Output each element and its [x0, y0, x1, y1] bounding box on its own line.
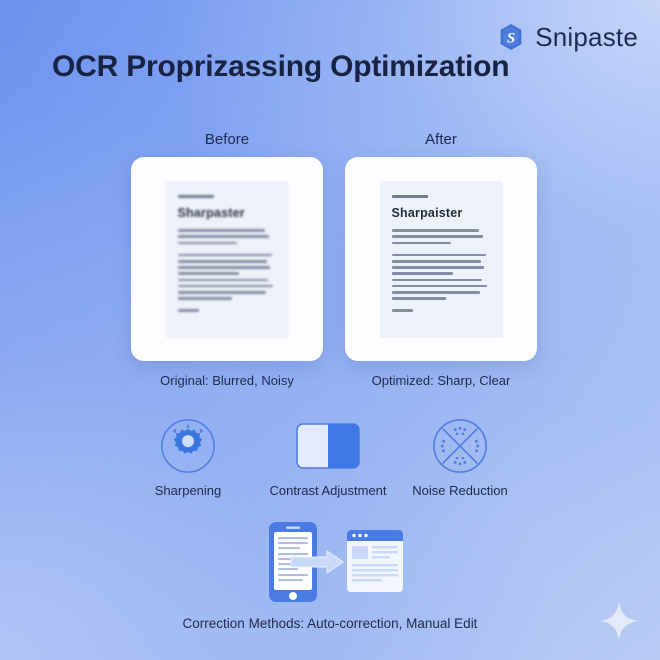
after-heading: After — [345, 131, 537, 149]
before-column: Before Sharpaster Original: Blurred, Noi… — [131, 131, 323, 389]
after-doc-heading: Sharpaister — [392, 207, 491, 221]
after-card[interactable]: Sharpaister — [345, 157, 537, 361]
after-column: After Sharpaister Optimized: Sharp, Clea… — [345, 131, 537, 389]
before-card[interactable]: Sharpaster — [131, 157, 323, 361]
contrast-split-icon — [253, 415, 403, 477]
page-title: OCR Proprizassing Optimization — [52, 50, 509, 84]
poster-canvas: S Snipaste OCR Proprizassing Optimizatio… — [0, 0, 660, 660]
brand-name: Snipaste — [535, 24, 638, 50]
gear-sharpen-icon — [113, 415, 263, 477]
brand-logo: S Snipaste — [496, 22, 638, 52]
doc-kicker — [178, 195, 214, 198]
before-caption: Original: Blurred, Noisy — [131, 373, 323, 389]
four-point-star-icon — [598, 600, 640, 642]
feature-contrast-adjustment[interactable]: Contrast Adjustment — [253, 415, 403, 498]
noise-cross-circle-icon — [385, 415, 535, 477]
svg-text:S: S — [507, 31, 515, 47]
feature-noise-reduction[interactable]: Noise Reduction — [385, 415, 535, 498]
correction-methods-section: Correction Methods: Auto-correction, Man… — [0, 518, 660, 631]
feature-sharpening[interactable]: Sharpening — [113, 415, 263, 498]
doc-kicker — [392, 195, 428, 198]
snipaste-hexagon-logo-icon: S — [496, 22, 526, 52]
feature-label: Sharpening — [113, 483, 263, 498]
after-caption: Optimized: Sharp, Clear — [345, 373, 537, 389]
before-document-page: Sharpaster — [166, 181, 289, 338]
after-document-page: Sharpaister — [380, 181, 503, 338]
feature-label: Noise Reduction — [385, 483, 535, 498]
feature-label: Contrast Adjustment — [253, 483, 403, 498]
before-doc-heading: Sharpaster — [178, 207, 277, 221]
before-heading: Before — [131, 131, 323, 149]
correction-methods-label: Correction Methods: Auto-correction, Man… — [0, 616, 660, 631]
phone-to-browser-icon — [0, 518, 660, 606]
